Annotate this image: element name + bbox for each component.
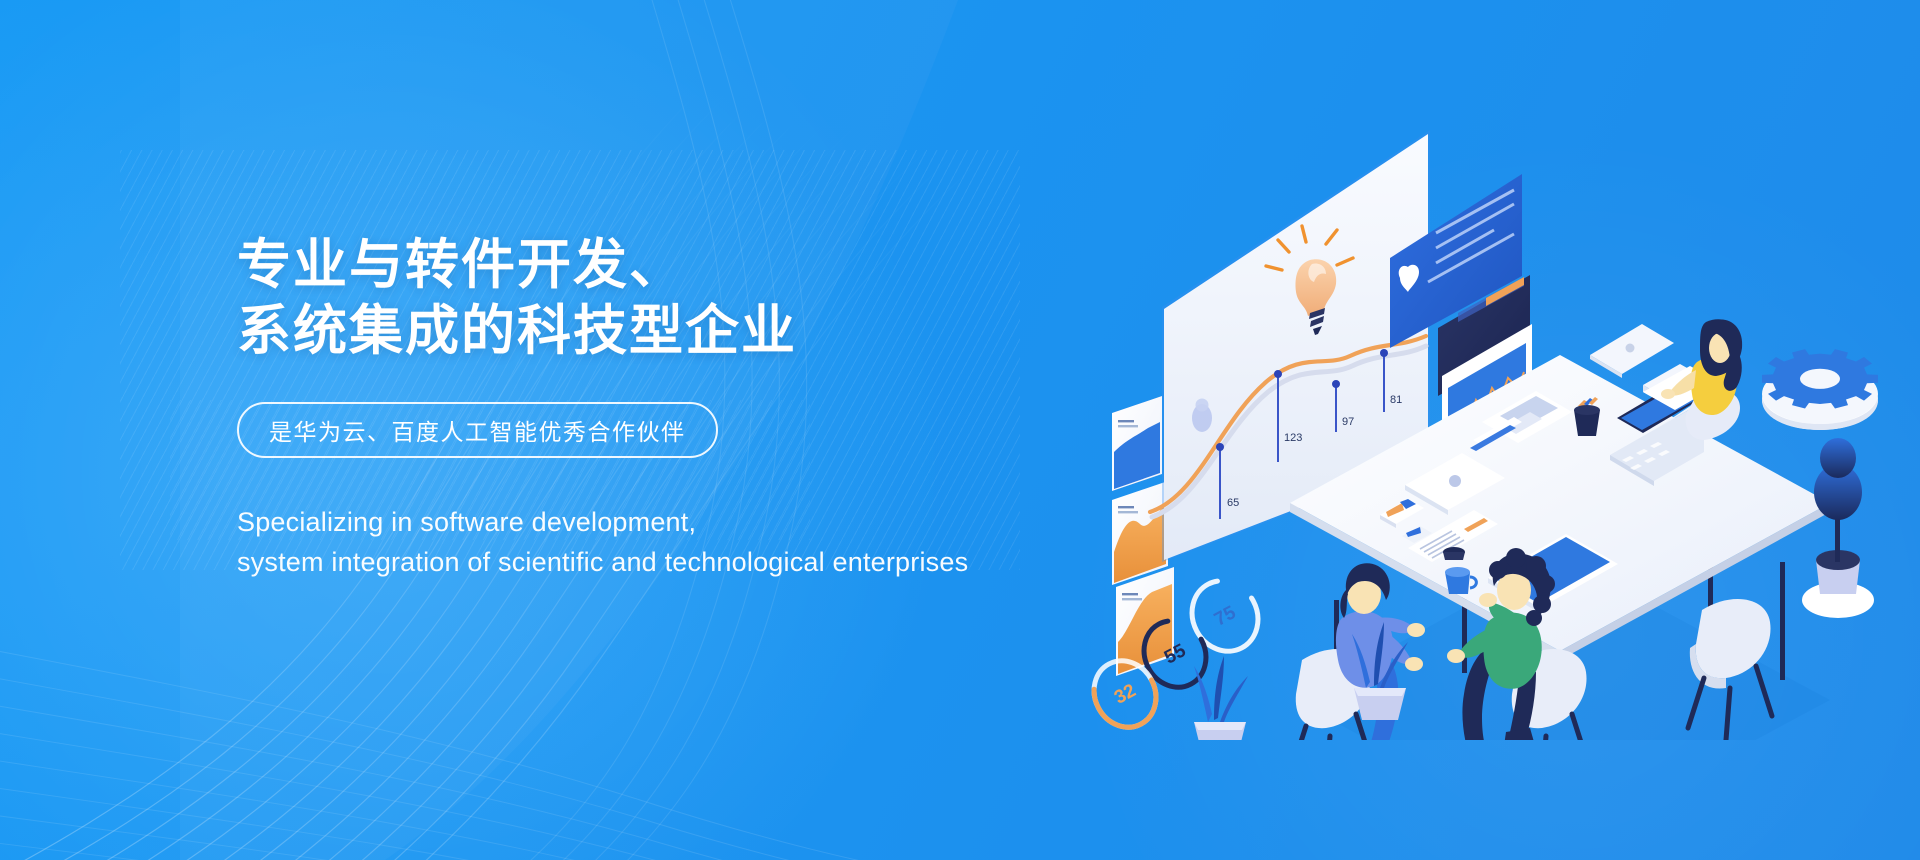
- isometric-team-illustration: 65 123 97 81: [1090, 100, 1920, 740]
- gauge-32: 32: [1090, 650, 1167, 738]
- laptop-icon: [1590, 324, 1674, 378]
- area-chart-card: [1112, 481, 1168, 585]
- gauge-value-32: 32: [1111, 680, 1140, 708]
- chart-label-97: 97: [1342, 416, 1354, 428]
- gauge-75: 75: [1180, 569, 1270, 663]
- hero-banner: 专业与转件开发、 系统集成的科技型企业 是华为云、百度人工智能优秀合作伙伴 Sp…: [0, 0, 1920, 860]
- gear-icon: [1762, 349, 1878, 430]
- page-title: 专业与转件开发、 系统集成的科技型企业: [237, 232, 1237, 364]
- headline-line-1: 专业与转件开发、: [237, 232, 1237, 298]
- hero-copy: 专业与转件开发、 系统集成的科技型企业 是华为云、百度人工智能优秀合作伙伴 Sp…: [237, 232, 1237, 582]
- coffee-mug-icon: [1443, 547, 1465, 560]
- chart-label-81: 81: [1390, 394, 1402, 406]
- subtitle-line-1: Specializing in software development,: [237, 502, 1237, 542]
- chart-label-65: 65: [1227, 497, 1239, 509]
- subtitle-line-2: system integration of scientific and tec…: [237, 542, 1237, 582]
- gauge-value-75: 75: [1211, 602, 1240, 631]
- topiary-plant-icon: [1802, 438, 1874, 618]
- subtitle: Specializing in software development, sy…: [237, 502, 1237, 582]
- chart-label-123: 123: [1284, 432, 1302, 444]
- area-chart-card: [1112, 396, 1162, 491]
- illustration-svg: 65 123 97 81: [1090, 100, 1920, 740]
- headline-line-2: 系统集成的科技型企业: [237, 298, 1237, 364]
- partner-badge: 是华为云、百度人工智能优秀合作伙伴: [237, 402, 718, 458]
